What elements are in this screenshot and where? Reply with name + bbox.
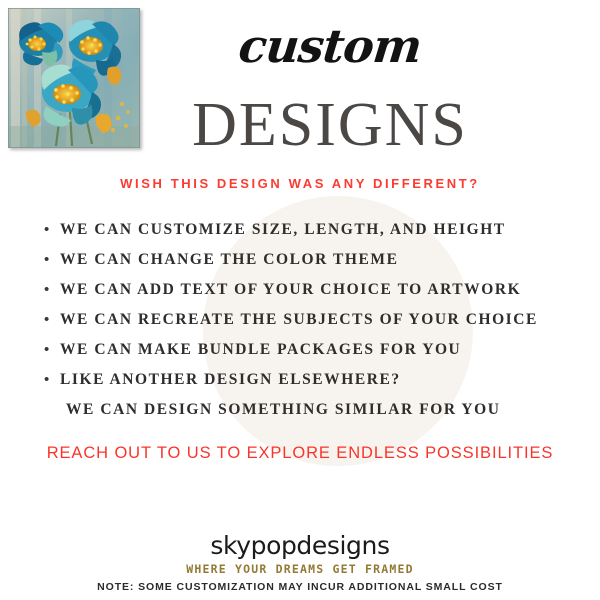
list-item-label: LIKE ANOTHER DESIGN ELSEWHERE? (60, 365, 401, 395)
list-item-label: WE CAN ADD TEXT OF YOUR CHOICE TO ARTWOR… (60, 275, 521, 305)
promo-canvas: custom DESIGNS WISH THIS DESIGN WAS ANY … (0, 0, 600, 600)
list-item: • LIKE ANOTHER DESIGN ELSEWHERE? (44, 365, 589, 395)
brand-name: skypopdesigns (100, 531, 500, 560)
list-item-label: WE CAN MAKE BUNDLE PACKAGES FOR YOU (60, 335, 461, 365)
teal-poppies-painting-icon (8, 8, 140, 148)
cta-text: REACH OUT TO US TO EXPLORE ENDLESS POSSI… (20, 444, 580, 463)
bullet-icon: • (44, 365, 60, 395)
feature-list: • WE CAN CUSTOMIZE SIZE, LENGTH, AND HEI… (44, 215, 589, 425)
footer-note: NOTE: SOME CUSTOMIZATION MAY INCUR ADDIT… (40, 581, 560, 593)
brand-tagline: WHERE YOUR DREAMS GET FRAMED (100, 562, 500, 576)
bullet-icon: • (44, 275, 60, 305)
list-item-label: WE CAN DESIGN SOMETHING SIMILAR FOR YOU (60, 395, 501, 425)
list-item-label: WE CAN CHANGE THE COLOR THEME (60, 245, 399, 275)
list-item: • WE CAN MAKE BUNDLE PACKAGES FOR YOU (44, 335, 589, 365)
list-item-label: WE CAN RECREATE THE SUBJECTS OF YOUR CHO… (60, 305, 538, 335)
bullet-icon: • (44, 305, 60, 335)
subtitle-question: WISH THIS DESIGN WAS ANY DIFFERENT? (60, 176, 540, 191)
list-item: • WE CAN CUSTOMIZE SIZE, LENGTH, AND HEI… (44, 215, 589, 245)
script-word-custom: custom (182, 18, 478, 74)
artwork-thumbnail[interactable] (8, 8, 140, 148)
bullet-icon: • (44, 245, 60, 275)
list-item: • WE CAN CHANGE THE COLOR THEME (44, 245, 589, 275)
bullet-icon: • (44, 215, 60, 245)
list-item-label: WE CAN CUSTOMIZE SIZE, LENGTH, AND HEIGH… (60, 215, 506, 245)
list-item-continuation: WE CAN DESIGN SOMETHING SIMILAR FOR YOU (44, 395, 589, 425)
list-item: • WE CAN RECREATE THE SUBJECTS OF YOUR C… (44, 305, 589, 335)
list-item: • WE CAN ADD TEXT OF YOUR CHOICE TO ARTW… (44, 275, 589, 305)
bullet-icon: • (44, 335, 60, 365)
page-title: DESIGNS (140, 92, 520, 158)
